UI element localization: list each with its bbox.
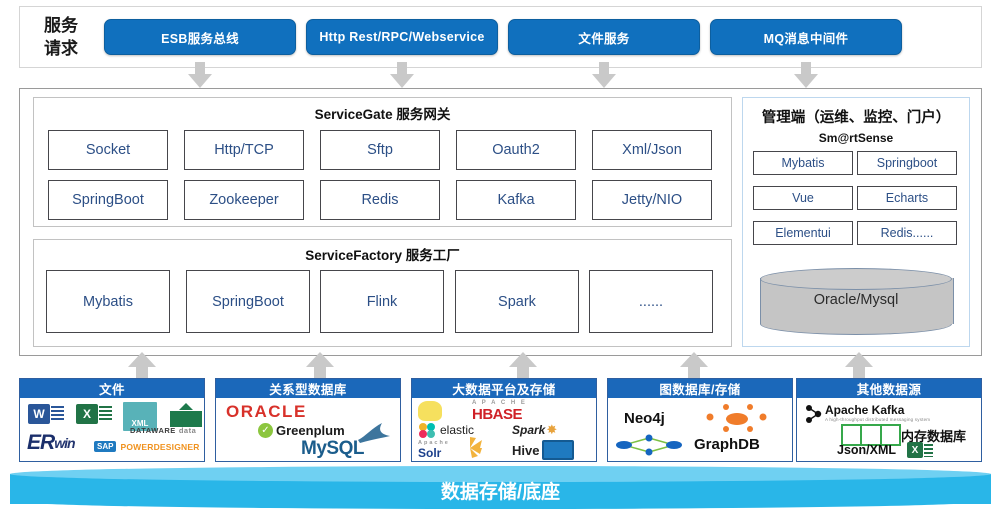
hadoop-logo bbox=[418, 401, 442, 421]
data-storage-base-label: 数据存储/底座 bbox=[10, 476, 991, 504]
data-source-other[interactable]: 其他数据源 Apache Kafka A high-throughput dis… bbox=[796, 378, 982, 462]
data-source-bigdata-header: 大数据平台及存储 bbox=[412, 379, 596, 398]
data-source-graphdb[interactable]: 图数据库/存储 Neo4j GraphDB bbox=[607, 378, 793, 462]
neo4j-graph-icon bbox=[700, 404, 774, 432]
service-pill-file-service[interactable]: 文件服务 bbox=[508, 19, 700, 55]
hbase-logo: A P A C H E HBASE bbox=[472, 400, 527, 423]
apache-kafka-logo: Apache Kafka A high-throughput distribut… bbox=[825, 403, 930, 422]
data-source-rdbms[interactable]: 关系型数据库 ORACLE ✓ Greenplum MySQL bbox=[215, 378, 401, 462]
gate-tile-http-tcp[interactable]: Http/TCP bbox=[184, 130, 304, 170]
spark-label: Spark bbox=[512, 423, 545, 437]
oracle-label: ORACLE bbox=[226, 402, 307, 422]
spark-logo: Spark ✸ bbox=[512, 422, 557, 438]
factory-tile-springboot[interactable]: SpringBoot bbox=[186, 270, 310, 333]
powerdesigner-label: POWERDESIGNER bbox=[120, 442, 199, 452]
kafka-label: Apache Kafka bbox=[825, 403, 904, 417]
flow-arrow-up-3 bbox=[509, 352, 537, 380]
solr-logo: Apache Solr bbox=[418, 440, 450, 460]
json-xml-label: Json/XML bbox=[837, 443, 896, 457]
data-source-rdbms-header: 关系型数据库 bbox=[216, 379, 400, 398]
data-source-file[interactable]: 文件 W X XML ERwin DATAWARE data SAP bbox=[19, 378, 205, 462]
solr-label: Solr bbox=[418, 446, 441, 460]
hive-label: Hive bbox=[512, 443, 539, 458]
erwin-label: ER bbox=[27, 431, 54, 455]
greenplum-label: Greenplum bbox=[276, 423, 345, 438]
mysql-logo: MySQL bbox=[301, 438, 364, 460]
kafka-icon bbox=[805, 404, 823, 424]
erwin-label-italic: win bbox=[54, 435, 74, 451]
service-request-label-line2: 请求 bbox=[44, 37, 78, 60]
dataware-label: DATAWARE bbox=[130, 426, 176, 435]
factory-tile-flink[interactable]: Flink bbox=[320, 270, 444, 333]
flow-arrow-down-2 bbox=[390, 62, 414, 88]
hbase-label: HBASE bbox=[472, 406, 522, 423]
flow-arrow-up-2 bbox=[306, 352, 334, 380]
mysql-dolphin-icon bbox=[356, 420, 396, 446]
data-source-bigdata[interactable]: 大数据平台及存储 A P A C H E HBASE elastic Spark… bbox=[411, 378, 597, 462]
dataware-sub: data bbox=[179, 426, 196, 435]
sap-powerdesigner-logo: SAP POWERDESIGNER bbox=[94, 441, 200, 452]
factory-tile-spark[interactable]: Spark bbox=[455, 270, 579, 333]
service-factory-title: ServiceFactory 服务工厂 bbox=[33, 245, 732, 263]
sap-label: SAP bbox=[94, 441, 116, 452]
oracle-logo: ORACLE bbox=[226, 402, 307, 422]
dataware-logo: DATAWARE data bbox=[130, 426, 196, 435]
excel-small-icon: X bbox=[907, 442, 933, 458]
admin-tile-echarts[interactable]: Echarts bbox=[857, 186, 957, 210]
neo4j-label: Neo4j bbox=[624, 410, 665, 427]
service-request-label-line1: 服务 bbox=[44, 14, 78, 37]
data-source-graphdb-header: 图数据库/存储 bbox=[608, 379, 792, 398]
gate-tile-socket[interactable]: Socket bbox=[48, 130, 168, 170]
graphdb-logo: GraphDB bbox=[694, 436, 760, 453]
flow-arrow-up-5 bbox=[845, 352, 873, 380]
data-source-other-header: 其他数据源 bbox=[797, 379, 981, 398]
service-gate-title: ServiceGate 服务网关 bbox=[33, 104, 732, 122]
gate-tile-xml-json[interactable]: Xml/Json bbox=[592, 130, 712, 170]
gate-tile-oauth2[interactable]: Oauth2 bbox=[456, 130, 576, 170]
flow-arrow-up-4 bbox=[680, 352, 708, 380]
flow-arrow-down-1 bbox=[188, 62, 212, 88]
admin-tile-redis[interactable]: Redis...... bbox=[857, 221, 957, 245]
solr-sun-icon bbox=[456, 436, 484, 460]
data-storage-base: 数据存储/底座 bbox=[10, 466, 991, 512]
admin-database-cylinder: Oracle/Mysql bbox=[760, 268, 952, 330]
spark-star-icon: ✸ bbox=[546, 422, 557, 438]
gate-tile-kafka[interactable]: Kafka bbox=[456, 180, 576, 220]
neo4j-logo: Neo4j bbox=[624, 410, 665, 427]
kafka-sub-label: A high-throughput distributed messaging … bbox=[825, 417, 930, 422]
flow-arrow-up-1 bbox=[128, 352, 156, 380]
gate-tile-zookeeper[interactable]: Zookeeper bbox=[184, 180, 304, 220]
gate-tile-springboot[interactable]: SpringBoot bbox=[48, 180, 168, 220]
factory-tile-more[interactable]: ...... bbox=[589, 270, 713, 333]
mysql-label: MySQL bbox=[301, 438, 364, 460]
service-pill-mq[interactable]: MQ消息中间件 bbox=[710, 19, 902, 55]
gate-tile-redis[interactable]: Redis bbox=[320, 180, 440, 220]
factory-tile-mybatis[interactable]: Mybatis bbox=[46, 270, 170, 333]
excel-icon: X bbox=[76, 404, 112, 424]
hive-logo: Hive bbox=[512, 440, 574, 460]
service-pill-esb[interactable]: ESB服务总线 bbox=[104, 19, 296, 55]
flow-arrow-down-4 bbox=[794, 62, 818, 88]
gate-tile-sftp[interactable]: Sftp bbox=[320, 130, 440, 170]
admin-panel-subtitle: Sm@rtSense bbox=[742, 130, 970, 145]
flow-arrow-down-3 bbox=[592, 62, 616, 88]
admin-tile-springboot[interactable]: Springboot bbox=[857, 151, 957, 175]
green-file-icon bbox=[170, 403, 202, 427]
gate-tile-jetty-nio[interactable]: Jetty/NIO bbox=[592, 180, 712, 220]
graphdb-graph-icon bbox=[616, 434, 682, 456]
greenplum-logo: ✓ Greenplum bbox=[258, 423, 345, 438]
architecture-diagram: 服务 请求 ESB服务总线 Http Rest/RPC/Webservice 文… bbox=[0, 0, 1001, 515]
elastic-label: elastic bbox=[440, 423, 474, 437]
admin-tile-vue[interactable]: Vue bbox=[753, 186, 853, 210]
json-xml-label-wrap: Json/XML bbox=[837, 443, 896, 457]
service-pill-http-rest[interactable]: Http Rest/RPC/Webservice bbox=[306, 19, 498, 55]
word-icon: W bbox=[28, 404, 64, 424]
admin-database-label: Oracle/Mysql bbox=[760, 286, 952, 314]
erwin-logo: ERwin bbox=[27, 431, 75, 455]
admin-tile-mybatis[interactable]: Mybatis bbox=[753, 151, 853, 175]
graphdb-label: GraphDB bbox=[694, 436, 760, 453]
admin-tile-elementui[interactable]: Elementui bbox=[753, 221, 853, 245]
data-source-file-header: 文件 bbox=[20, 379, 204, 398]
service-request-label: 服务 请求 bbox=[30, 14, 92, 60]
admin-panel-title: 管理端（运维、监控、门户） bbox=[742, 106, 970, 126]
